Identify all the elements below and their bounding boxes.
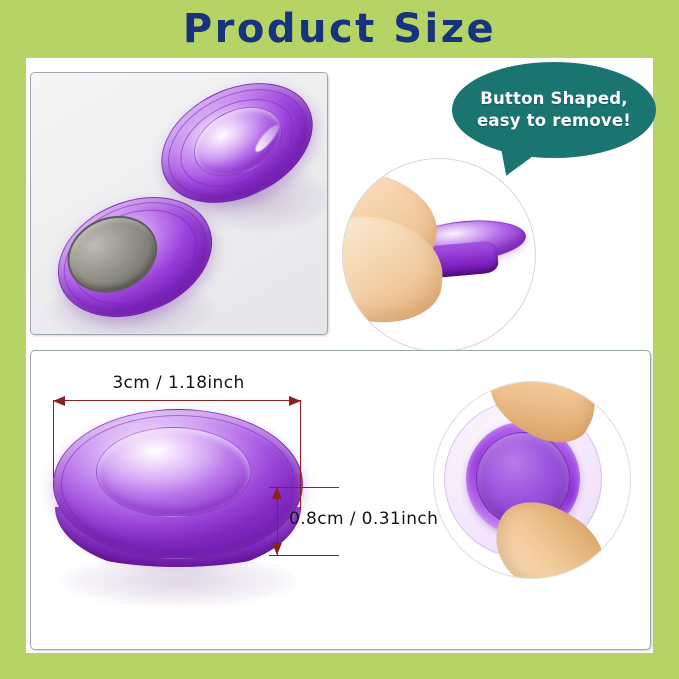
width-dimension-line — [53, 400, 301, 401]
width-extension-right — [300, 400, 301, 510]
arrow-up-icon — [272, 487, 282, 499]
title-bar: Product Size — [0, 0, 679, 58]
product-pair-photo — [31, 73, 327, 334]
callout-body: Button Shaped, easy to remove! — [452, 62, 656, 158]
fingers-top-down-photo — [433, 381, 631, 579]
arrow-right-icon — [289, 396, 301, 406]
panel-dimensions: 3cm / 1.18inch 0.8cm / 0.31inch — [30, 350, 651, 650]
disc-center — [96, 427, 251, 517]
height-dimension-label: 0.8cm / 0.31inch — [289, 509, 438, 529]
width-dimension-label: 3cm / 1.18inch — [71, 373, 286, 393]
callout-bubble: Button Shaped, easy to remove! — [452, 62, 667, 180]
fingers-holding-button-photo — [342, 158, 536, 352]
callout-line-1: Button Shaped, — [480, 88, 628, 110]
page-title: Product Size — [183, 9, 496, 49]
arrow-down-icon — [272, 543, 282, 555]
panel-product-pair — [30, 72, 328, 335]
arrow-left-icon — [53, 396, 65, 406]
button-magnet-main — [53, 409, 303, 559]
product-size-infographic: Product Size — [0, 0, 679, 679]
callout-line-2: easy to remove! — [477, 110, 631, 132]
width-extension-left — [53, 400, 54, 478]
height-extension-bottom — [269, 555, 339, 556]
